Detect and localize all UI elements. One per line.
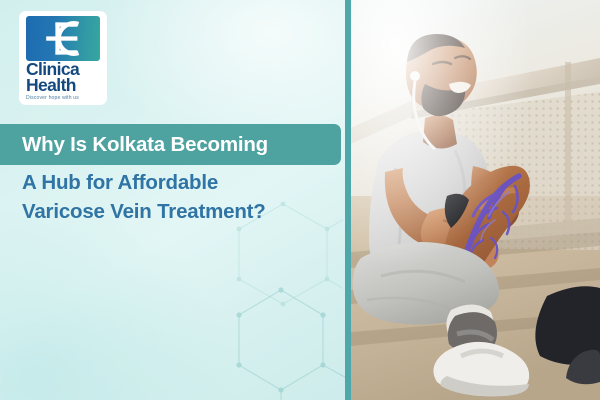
brand-logo[interactable]: Clinica Health Discover hope with us [19,11,107,105]
headline-remainder: A Hub for Affordable Varicose Vein Treat… [22,168,342,226]
brand-wordmark: Clinica Health Discover hope with us [26,61,100,101]
brand-name-line2: Health [26,77,100,93]
hero-photo [351,0,600,400]
brand-tagline: Discover hope with us [26,95,100,101]
hero-photo-illustration [351,0,600,400]
headline-line-2: A Hub for Affordable [22,168,342,197]
headline-line-1: Why Is Kolkata Becoming [22,124,331,165]
left-content-panel: Clinica Health Discover hope with us Why… [0,0,347,400]
headline-line-3: Varicose Vein Treatment? [22,197,342,226]
clinica-health-emblem-icon [26,16,100,61]
article-hero-banner: Clinica Health Discover hope with us Why… [0,0,600,400]
headline-highlight-bar: Why Is Kolkata Becoming [0,124,341,165]
molecule-hexagon-secondary-icon [211,270,347,400]
